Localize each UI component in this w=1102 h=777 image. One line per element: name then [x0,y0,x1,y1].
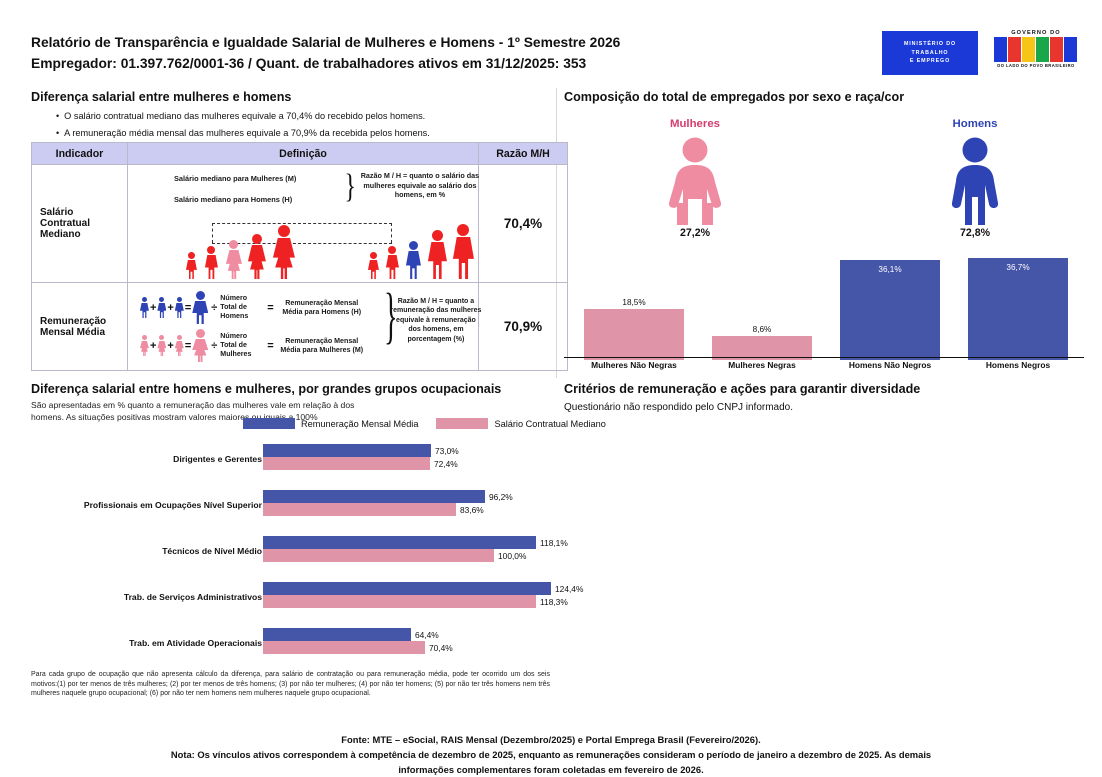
label-median-salary-women: Salário mediano para Mulheres (M) [174,174,296,183]
race-bar: 36,1% [840,260,940,360]
race-bar-column: 18,5% [584,309,684,360]
men-total-label: Número Total de Homens [220,294,262,321]
man-icon [944,137,1006,225]
race-category-label: Homens Negros [953,360,1083,370]
bar-value-salario: 83,6% [460,505,484,515]
bar-remuneracao: 64,4% [263,628,411,641]
criteria-section-text: Questionário não respondido pelo CNPJ in… [564,402,793,413]
person-icon [140,297,149,318]
column-header-indicador: Indicador [32,143,128,165]
legend-swatch-pink [436,418,488,429]
salary-gap-bullets: O salário contratual mediano das mulhere… [44,108,544,142]
bullet-item: O salário contratual mediano das mulhere… [56,108,544,125]
bar-salario: 118,3% [263,595,536,608]
race-bar-value: 18,5% [584,298,684,307]
bar-remuneracao: 73,0% [263,444,431,457]
person-icon-large [192,291,208,324]
report-title-line-2: Empregador: 01.397.762/0001-36 / Quant. … [31,53,620,74]
bullet-item: A remuneração média mensal das mulheres … [56,125,544,142]
pictogram-men: Homens 72,8% [890,118,1060,239]
bar-remuneracao: 118,1% [263,536,536,549]
bar-remuneracao: 124,4% [263,582,551,595]
column-header-razao: Razão M/H [479,143,568,165]
indicator-table: Indicador Definição Razão M/H Salário Co… [31,142,568,371]
bar-salario: 83,6% [263,503,456,516]
person-icon-median-men [406,241,421,279]
race-bar-value: 36,1% [840,265,940,274]
pictogram-women: Mulheres 27,2% [610,118,780,239]
bar-value-remuneracao: 73,0% [435,446,459,456]
divide-sign: ÷ [211,340,217,352]
plus-sign: + [167,302,173,314]
government-of-brazil-logo: GOVERNO DO DO LADO DO POVO BRASILEIRO [990,30,1082,76]
bar-value-salario: 118,3% [540,597,568,607]
occupation-group: Trab. em Atividade Operacionais 64,4% 70… [31,628,568,658]
people-pictogram-row1 [128,217,480,279]
ministry-of-labor-logo: MINISTÉRIO DO TRABALHO E EMPREGO [882,31,978,75]
bar-value-remuneracao: 96,2% [489,492,513,502]
page-header: Relatório de Transparência e Igualdade S… [0,0,1102,84]
race-bar-value: 8,6% [712,325,812,334]
logo-group: MINISTÉRIO DO TRABALHO E EMPREGO GOVERNO… [882,30,1082,76]
women-result-label: Remuneração Mensal Média para Mulheres (… [279,337,365,355]
person-icon [175,335,184,356]
legend-label-salario: Salário Contratual Mediano [494,419,605,429]
plus-sign: + [150,302,156,314]
occupation-bar-pair: 73,0% 72,4% [263,444,431,470]
occupation-bar-pair: 96,2% 83,6% [263,490,485,516]
occupation-bar-chart: Dirigentes e Gerentes 73,0% 72,4% Profis… [31,436,568,666]
row-indicator-salario-mediano: Salário Contratual Mediano [32,165,128,283]
logo-mte-line-1: MINISTÉRIO DO [904,40,956,48]
page-footer: Fonte: MTE – eSocial, RAIS Mensal (Dezem… [0,732,1102,777]
occupation-label: Dirigentes e Gerentes [173,454,262,464]
bar-value-salario: 100,0% [498,551,526,561]
person-icon [175,297,184,318]
race-composition-chart: 18,5% 8,6% 36,1% 36,7% [564,250,1084,360]
equals-sign: = [267,340,273,352]
occupation-bar-pair: 124,4% 118,3% [263,582,551,608]
salary-gap-section-title: Diferença salarial entre mulheres e home… [31,90,291,104]
plus-sign: + [150,340,156,352]
women-total-label: Número Total de Mulheres [220,332,262,359]
bar-salario: 72,4% [263,457,430,470]
race-bar-column: 36,1% [840,260,940,360]
occupation-label: Técnicos de Nível Médio [162,546,262,556]
person-icon [453,224,474,279]
bar-remuneracao: 96,2% [263,490,485,503]
race-bar-column: 36,7% [968,258,1068,360]
dashed-line-left [212,223,213,243]
person-icon [157,297,166,318]
plus-sign: + [167,340,173,352]
occupation-group: Trab. de Serviços Administrativos 124,4%… [31,582,568,612]
bar-value-remuneracao: 124,4% [555,584,583,594]
occupation-label: Trab. em Atividade Operacionais [129,638,262,648]
occupation-bar-pair: 64,4% 70,4% [263,628,425,654]
ratio-value-remuneracao-media: 70,9% [479,283,568,371]
divide-sign: ÷ [211,302,217,314]
ratio-value-salario-mediano: 70,4% [479,165,568,283]
report-title-line-1: Relatório de Transparência e Igualdade S… [31,32,620,53]
logo-gov-bottom-text: DO LADO DO POVO BRASILEIRO [990,63,1082,68]
table-row: Salário Contratual Mediano Salário media… [32,165,568,283]
person-icon [386,246,399,279]
occupation-chart-legend: Remuneração Mensal Média Salário Contrat… [243,418,606,429]
column-header-definicao: Definição [127,143,478,165]
bar-value-salario: 70,4% [429,643,453,653]
person-icon [428,230,447,279]
race-chart-axis [564,357,1084,358]
person-icon [273,225,295,279]
person-icon [140,335,149,356]
race-category-label: Mulheres Negras [697,360,827,370]
ratio-explanation-row1: Razão M / H = quanto o salário das mulhe… [360,171,480,200]
ratio-explanation-row2: Razão M / H = quanto a remuneração das m… [390,297,482,344]
brasil-wordmark [990,37,1082,62]
occupation-group: Técnicos de Nível Médio 118,1% 100,0% [31,536,568,566]
equals-sign: = [185,302,191,314]
occupation-group: Dirigentes e Gerentes 73,0% 72,4% [31,444,568,474]
person-icon-median-women [226,240,242,279]
pictogram-men-percent: 72,8% [890,227,1060,239]
table-row: Remuneração Mensal Média + + [32,283,568,371]
occupation-footnote: Para cada grupo de ocupação que não apre… [31,670,550,699]
page-title: Relatório de Transparência e Igualdade S… [31,32,620,74]
footer-source: Fonte: MTE – eSocial, RAIS Mensal (Dezem… [0,732,1102,747]
legend-label-remuneracao: Remuneração Mensal Média [301,419,418,429]
bar-value-remuneracao: 64,4% [415,630,439,640]
person-icon [205,246,218,279]
legend-item-remuneracao: Remuneração Mensal Média [243,418,418,429]
logo-mte-line-3: E EMPREGO [904,57,956,65]
race-category-label: Homens Não Negros [825,360,955,370]
brace-icon: } [344,170,355,204]
footer-note-line-2: informações complementares foram coletad… [0,762,1102,777]
composition-section-title: Composição do total de empregados por se… [564,90,904,104]
label-median-salary-men: Salário mediano para Homens (H) [174,195,292,204]
person-icon [157,335,166,356]
row-definition-salario-mediano: Salário mediano para Mulheres (M) Salári… [127,165,478,283]
race-bar: 36,7% [968,258,1068,360]
race-category-label: Mulheres Não Negras [569,360,699,370]
footer-note-line-1: Nota: Os vínculos ativos correspondem à … [0,747,1102,762]
dashed-line-top [212,223,392,224]
bar-value-remuneracao: 118,1% [540,538,568,548]
person-icon [186,252,197,279]
dashed-line-right [391,223,392,243]
equals-sign: = [267,302,273,314]
race-bar [584,309,684,360]
bar-salario: 100,0% [263,549,494,562]
race-bar-value: 36,7% [968,263,1068,272]
pictogram-women-percent: 27,2% [610,227,780,239]
pictogram-men-label: Homens [890,118,1060,130]
logo-mte-line-2: TRABALHO [904,49,956,57]
row-indicator-remuneracao-media: Remuneração Mensal Média [32,283,128,371]
woman-icon [664,137,726,225]
race-chart-labels: Mulheres Não Negras Mulheres Negras Home… [564,360,1084,374]
table-header-row: Indicador Definição Razão M/H [32,143,568,165]
occupation-section-title: Diferença salarial entre homens e mulher… [31,382,501,396]
person-icon [368,252,379,279]
equation-women: + + = ÷ Número T [140,329,365,362]
legend-swatch-blue [243,418,295,429]
occupation-label: Profissionais em Ocupações Nível Superio… [84,500,262,510]
occupation-bar-pair: 118,1% 100,0% [263,536,536,562]
equation-men: + + = ÷ Número T [140,291,365,324]
occupation-group: Profissionais em Ocupações Nível Superio… [31,490,568,520]
legend-item-salario: Salário Contratual Mediano [436,418,605,429]
person-icon-large [192,329,208,362]
logo-gov-top-text: GOVERNO DO [990,30,1082,36]
equals-sign: = [185,340,191,352]
occupation-label: Trab. de Serviços Administrativos [124,592,262,602]
criteria-section-title: Critérios de remuneração e ações para ga… [564,382,920,396]
men-result-label: Remuneração Mensal Média para Homens (H) [279,299,365,317]
person-icon [248,234,266,279]
bar-value-salario: 72,4% [434,459,458,469]
row-definition-remuneracao-media: + + = ÷ Número T [127,283,478,371]
bar-salario: 70,4% [263,641,425,654]
pictogram-women-label: Mulheres [610,118,780,130]
